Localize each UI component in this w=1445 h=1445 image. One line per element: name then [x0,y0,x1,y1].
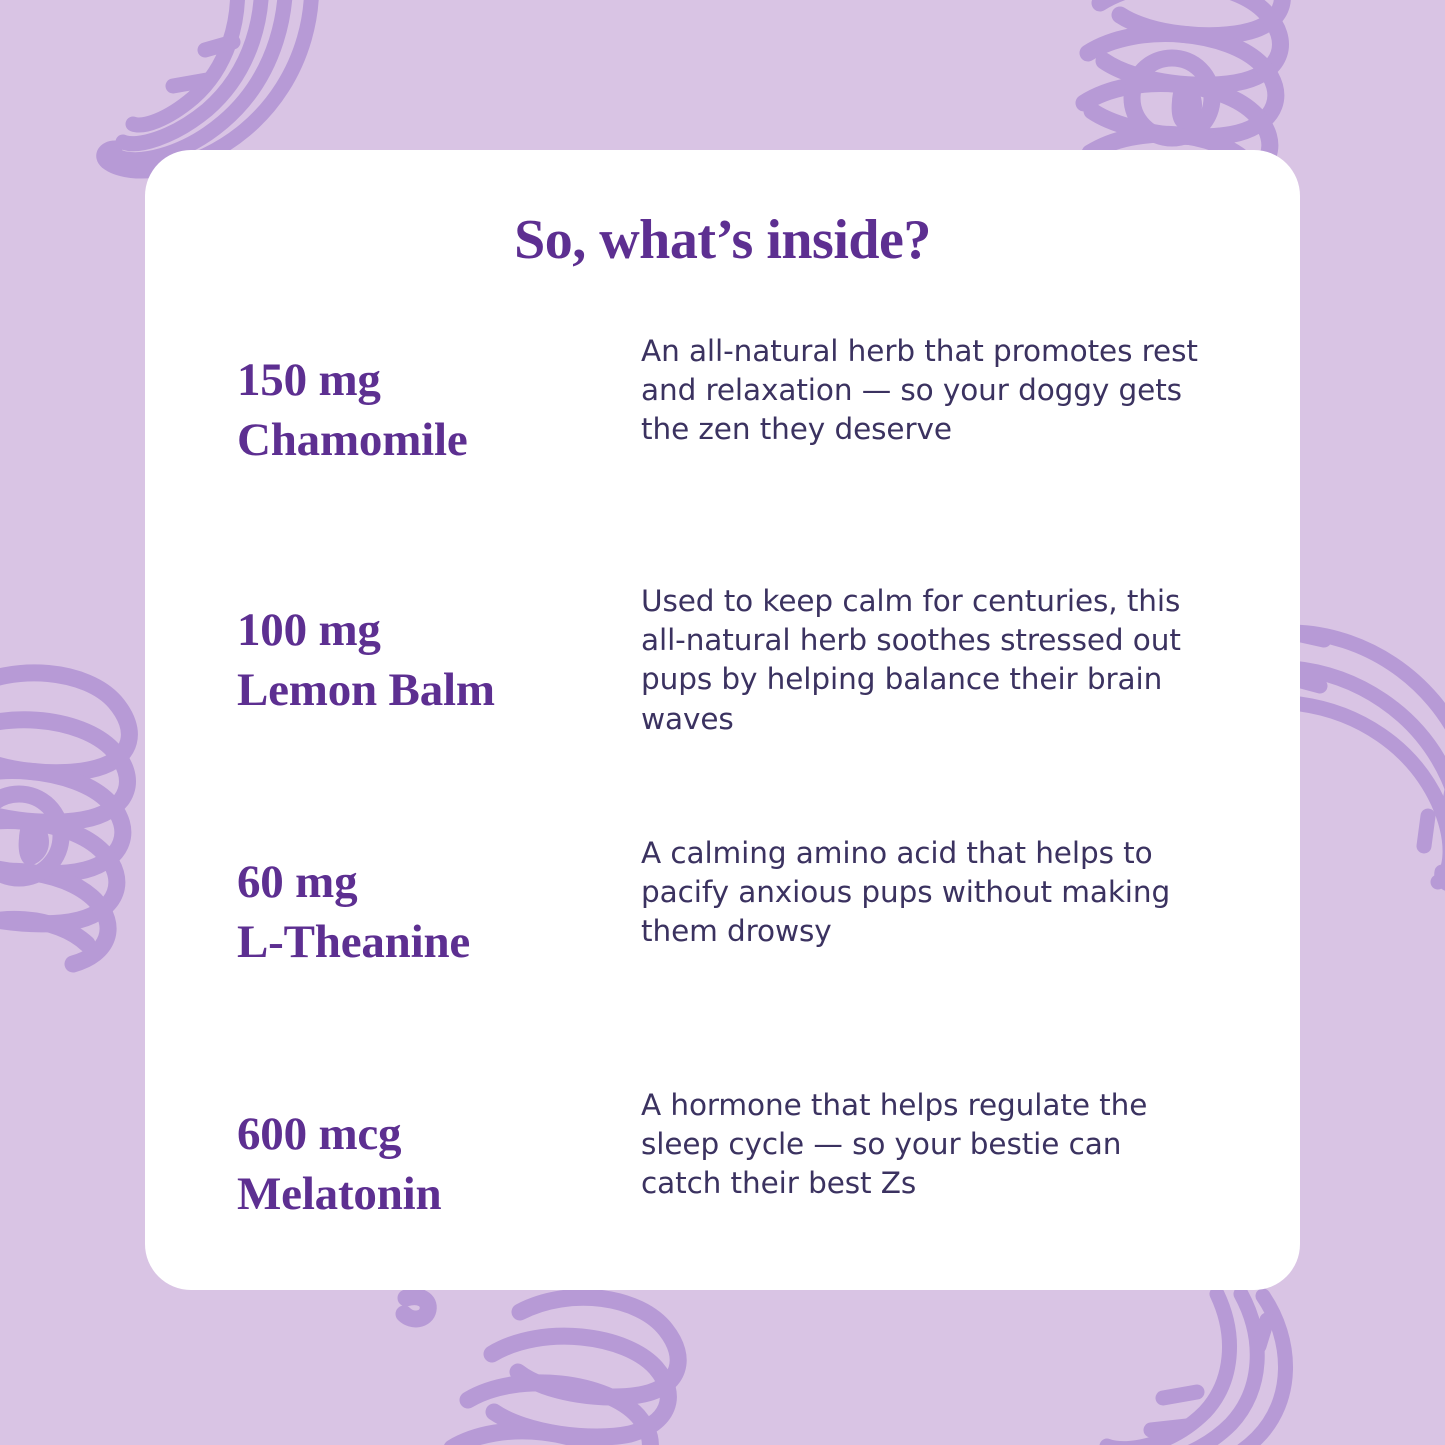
ingredients-card: So, what’s inside? 150 mg Chamomile An a… [145,150,1300,1290]
ingredient-amount: 100 mg Lemon Balm [237,582,641,720]
ingredient-name: Chamomile [237,410,641,470]
page-title: So, what’s inside? [145,208,1300,272]
list-item: 60 mg L-Theanine A calming amino acid th… [237,834,1240,1086]
ingredient-amount: 150 mg Chamomile [237,332,641,470]
list-item: 600 mcg Melatonin A hormone that helps r… [237,1086,1240,1338]
ingredient-amount: 600 mcg Melatonin [237,1086,641,1224]
ingredient-description: A calming amino acid that helps to pacif… [641,834,1201,952]
list-item: 150 mg Chamomile An all-natural herb tha… [237,332,1240,582]
ingredient-amount: 60 mg L-Theanine [237,834,641,972]
ingredient-dose: 150 mg [237,350,641,410]
ingredient-name: Melatonin [237,1164,641,1224]
list-item: 100 mg Lemon Balm Used to keep calm for … [237,582,1240,834]
poster-root: So, what’s inside? 150 mg Chamomile An a… [0,0,1445,1445]
ingredient-name: Lemon Balm [237,660,641,720]
ingredient-description: Used to keep calm for centuries, this al… [641,582,1201,739]
ingredient-dose: 60 mg [237,852,641,912]
ingredient-dose: 600 mcg [237,1104,641,1164]
ingredient-name: L-Theanine [237,912,641,972]
ingredient-description: A hormone that helps regulate the sleep … [641,1086,1201,1204]
ingredients-list: 150 mg Chamomile An all-natural herb tha… [237,332,1240,1338]
ingredient-dose: 100 mg [237,600,641,660]
ingredient-description: An all-natural herb that promotes rest a… [641,332,1201,450]
